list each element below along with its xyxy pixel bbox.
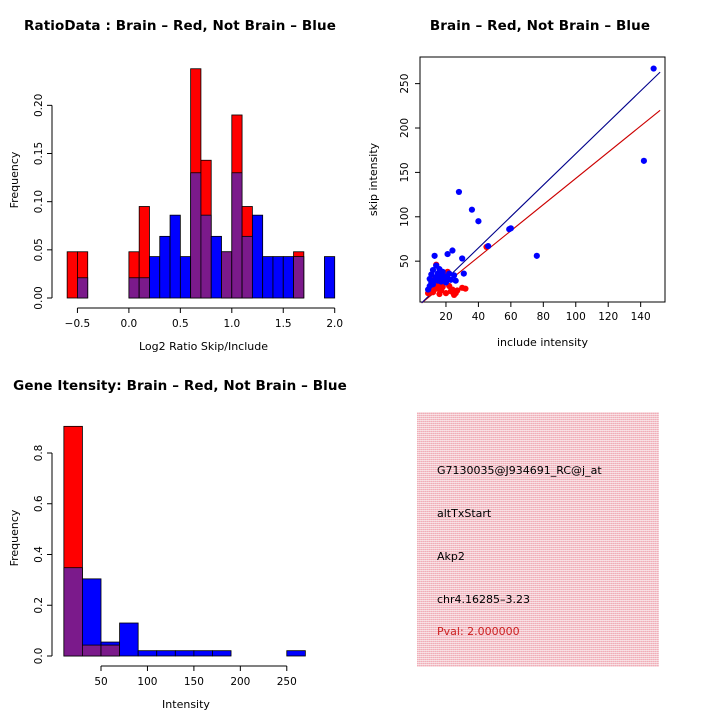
y-tick-label: 200 [399,118,411,138]
x-tick-label: 200 [230,676,250,688]
scatter-point [453,278,459,284]
x-axis-label: Intensity [162,698,210,711]
scatter-plot: 50100150200250skip intensity204060801001… [360,0,720,360]
histogram-bar-overlap [222,252,232,298]
probe-id-label: G7130035@J934691_RC@j_at [437,464,602,477]
histogram-bar [287,651,306,656]
y-tick-label: 0.10 [33,190,45,213]
x-tick-label: 120 [598,311,618,323]
y-tick-label: 0.00 [33,286,45,309]
histogram-bar [263,257,273,298]
x-tick-label: −0.5 [65,318,91,330]
scatter-title: Brain – Red, Not Brain – Blue [360,18,720,34]
y-tick-label: 0.4 [33,546,45,563]
scatter-point [508,225,514,231]
y-tick-label: 50 [399,254,411,267]
histogram-bar [252,215,262,298]
x-tick-label: 150 [184,676,204,688]
scatter-point [456,189,462,195]
panel-gene-histogram: Gene Itensity: Brain – Red, Not Brain – … [0,370,360,720]
locus-label: chr4.16285–3.23 [437,593,530,606]
y-tick-label: 0.2 [33,597,45,614]
y-tick-label: 100 [399,207,411,227]
histogram-bar [211,236,221,298]
x-tick-label: 50 [94,676,107,688]
regression-line [422,110,661,303]
gene-histogram-plot: 0.00.20.40.60.8Frequency50100150200250In… [0,378,360,720]
histogram-bar [149,257,159,298]
y-tick-label: 0.05 [33,238,45,261]
gene-histogram-title: Gene Itensity: Brain – Red, Not Brain – … [0,378,360,394]
x-axis-label: include intensity [497,336,589,349]
x-tick-label: 1.0 [223,318,240,330]
x-tick-label: 0.0 [121,318,138,330]
y-tick-label: 0.6 [33,495,45,512]
x-tick-label: 80 [537,311,550,323]
scatter-point [534,253,540,259]
y-axis-label: skip intensity [367,142,380,216]
x-tick-label: 0.5 [172,318,189,330]
y-tick-label: 0.15 [33,142,45,165]
scatter-point [449,247,455,253]
histogram-bar [170,215,180,298]
x-tick-label: 100 [137,676,157,688]
gene-symbol-label: Akp2 [437,550,465,563]
gene-info-panel: G7130035@J934691_RC@j_at altTxStart Akp2… [417,412,659,667]
scatter-point [485,243,491,249]
x-tick-label: 250 [277,676,297,688]
histogram-bar-overlap [191,173,201,298]
ratio-histogram-plot: 0.000.050.100.150.20Frequency−0.50.00.51… [0,0,360,360]
scatter-point [432,253,438,259]
x-tick-label: 40 [472,311,485,323]
histogram-bar-overlap [139,278,149,298]
y-axis-label: Frequency [8,509,21,566]
scatter-point [651,65,657,71]
histogram-bar [67,252,77,298]
histogram-bar [212,651,231,656]
histogram-bar [283,257,293,298]
scatter-point [461,270,467,276]
y-tick-label: 150 [399,162,411,182]
histogram-bar [82,579,101,656]
y-tick-label: 0.8 [33,445,45,462]
x-tick-label: 140 [631,311,651,323]
histogram-bar-overlap [82,645,101,656]
x-tick-label: 1.5 [275,318,292,330]
histogram-bar [157,651,176,656]
scatter-point [641,158,647,164]
x-tick-label: 100 [566,311,586,323]
histogram-bar-overlap [232,173,242,298]
histogram-bar [194,651,213,656]
figure-canvas: RatioData : Brain – Red, Not Brain – Blu… [0,0,720,720]
histogram-bar-overlap [201,215,211,298]
x-axis-label: Log2 Ratio Skip/Include [139,340,268,353]
scatter-point [451,272,457,278]
x-tick-label: 2.0 [326,318,343,330]
y-tick-label: 0.0 [33,648,45,665]
histogram-bar [180,257,190,298]
regression-line [422,72,661,303]
plot-frame [420,57,665,302]
histogram-bar [138,651,157,656]
histogram-bar-overlap [77,278,87,298]
histogram-bar-overlap [242,236,252,298]
scatter-point [475,218,481,224]
y-tick-label: 0.20 [33,94,45,117]
histogram-bar [160,236,170,298]
histogram-bar-overlap [64,568,83,656]
x-tick-label: 60 [504,311,517,323]
histogram-bar [120,623,139,656]
panel-ratio-histogram: RatioData : Brain – Red, Not Brain – Blu… [0,0,360,360]
histogram-bar-overlap [129,278,139,298]
scatter-point [469,207,475,213]
histogram-bar-overlap [101,645,120,656]
histogram-bar [324,257,334,298]
ratio-histogram-title: RatioData : Brain – Red, Not Brain – Blu… [0,18,360,34]
scatter-point [459,255,465,261]
panel-scatter: Brain – Red, Not Brain – Blue 5010015020… [360,0,720,360]
y-tick-label: 250 [399,74,411,94]
y-axis-label: Frequency [8,151,21,208]
histogram-bar [273,257,283,298]
pval-label: Pval: 2.000000 [437,625,520,638]
histogram-bar [175,651,194,656]
scatter-point [462,286,468,292]
histogram-bar-overlap [294,257,304,298]
x-tick-label: 20 [439,311,452,323]
event-type-label: altTxStart [437,507,491,520]
